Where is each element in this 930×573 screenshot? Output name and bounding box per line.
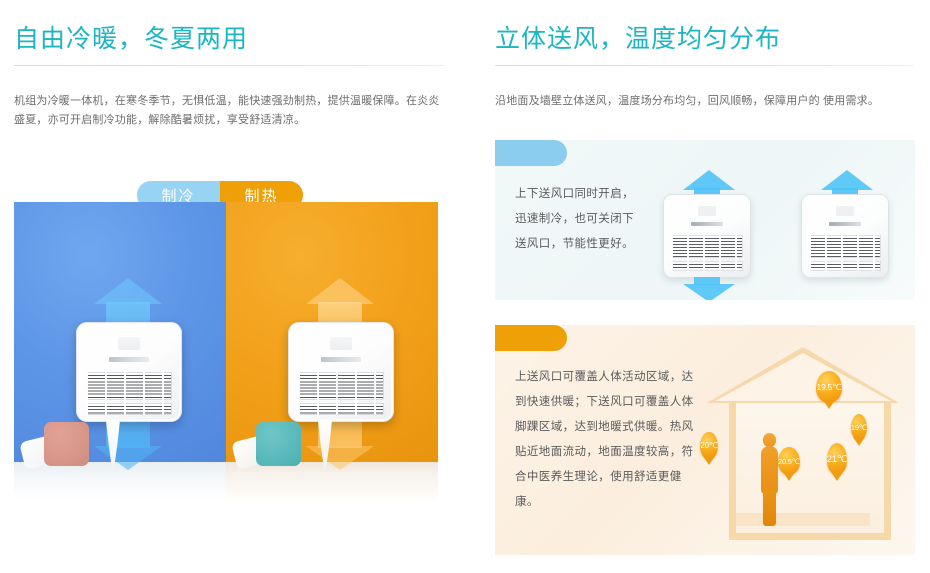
- unit-display-panel: [836, 206, 854, 216]
- brand-logo: [829, 222, 861, 226]
- unit-display-panel: [330, 337, 352, 350]
- card-badge-blue: [495, 140, 567, 166]
- mini-unit-group-1: [653, 170, 763, 290]
- left-heading-divider: [14, 65, 444, 66]
- right-heading-divider: [495, 65, 913, 66]
- temperature-pin-label: 21℃: [827, 443, 848, 475]
- airflow-card-cooling: 上下送风口同时开启，迅速制冷，也可关闭下送风口，节能性更好。: [495, 140, 915, 300]
- house-floor-band: [736, 513, 870, 526]
- temperature-pin-label: 20℃: [700, 432, 717, 459]
- hero-comparison-image: [14, 202, 438, 500]
- brand-logo: [109, 357, 149, 362]
- person-legs-icon: [763, 490, 776, 526]
- card-badge-orange: [495, 325, 567, 351]
- brand-logo: [321, 357, 361, 362]
- hero-heating-scene: [226, 202, 438, 500]
- left-section-title: 自由冷暖，冬夏两用: [14, 22, 444, 56]
- indoor-unit-mini-2: [801, 194, 889, 278]
- brand-logo: [691, 222, 723, 226]
- mini-unit-group-2: [791, 170, 901, 290]
- left-section-heading: 自由冷暖，冬夏两用: [14, 22, 444, 66]
- indoor-unit-mini-1: [663, 194, 751, 278]
- grille-vertical-slats: [671, 235, 743, 271]
- mini-down-arrow-1: [683, 284, 735, 300]
- airflow-card-heating: 上送风口可覆盖人体活动区域，达到快速供暖；下送风口可覆盖人体脚踝区域，达到地暖式…: [495, 325, 915, 555]
- hero-cooling-scene: [14, 202, 226, 500]
- mini-up-arrow-2: [821, 170, 873, 190]
- pillow-pink: [44, 422, 89, 466]
- product-feature-page: 自由冷暖，冬夏两用 机组为冷暖一体机，在寒冬季节，无惧低温，能快速强劲制热，提供…: [0, 0, 930, 573]
- cooling-card-text: 上下送风口同时开启，迅速制冷，也可关闭下送风口，节能性更好。: [515, 182, 645, 257]
- pillow-teal: [256, 422, 301, 466]
- person-head-icon: [763, 433, 776, 447]
- cooling-down-arrow: [94, 446, 162, 470]
- heating-card-text: 上送风口可覆盖人体活动区域，达到快速供暖；下送风口可覆盖人体脚踝区域，达到地暖式…: [515, 365, 697, 515]
- cooling-up-arrow: [94, 278, 162, 304]
- left-column: 自由冷暖，冬夏两用 机组为冷暖一体机，在寒冬季节，无惧低温，能快速强劲制热，提供…: [0, 0, 465, 573]
- temperature-pin-label: 20.5℃: [778, 447, 800, 475]
- grille-vertical-slats: [86, 372, 172, 415]
- unit-display-panel: [698, 206, 716, 216]
- grille-vertical-slats: [809, 235, 881, 271]
- right-section-body: 沿地面及墙壁立体送风，温度场分布均匀，回风顺畅，保障用户的 使用需求。: [495, 92, 915, 111]
- indoor-unit-heating: [288, 322, 394, 422]
- house-temperature-diagram: 19.5℃ 19℃ 20℃ 20.5℃ 21℃: [707, 347, 899, 537]
- heating-down-arrow: [306, 446, 374, 470]
- left-section-body: 机组为冷暖一体机，在寒冬季节，无惧低温，能快速强劲制热，提供温暖保障。在炎炎盛夏…: [14, 92, 446, 130]
- grille-vertical-slats: [298, 372, 384, 415]
- right-section-title: 立体送风，温度均匀分布: [495, 22, 913, 56]
- temperature-pin-label: 19℃: [851, 414, 867, 440]
- unit-display-panel: [118, 337, 140, 350]
- temperature-pin-label: 19.5℃: [816, 371, 841, 403]
- indoor-unit-cooling: [76, 322, 182, 422]
- person-torso-icon: [761, 446, 778, 494]
- house-roof-inner: [715, 353, 891, 401]
- right-section-heading: 立体送风，温度均匀分布: [495, 22, 913, 66]
- heating-up-arrow: [306, 278, 374, 304]
- right-column: 立体送风，温度均匀分布 沿地面及墙壁立体送风，温度场分布均匀，回风顺畅，保障用户…: [465, 0, 930, 573]
- mini-up-arrow-1: [683, 170, 735, 190]
